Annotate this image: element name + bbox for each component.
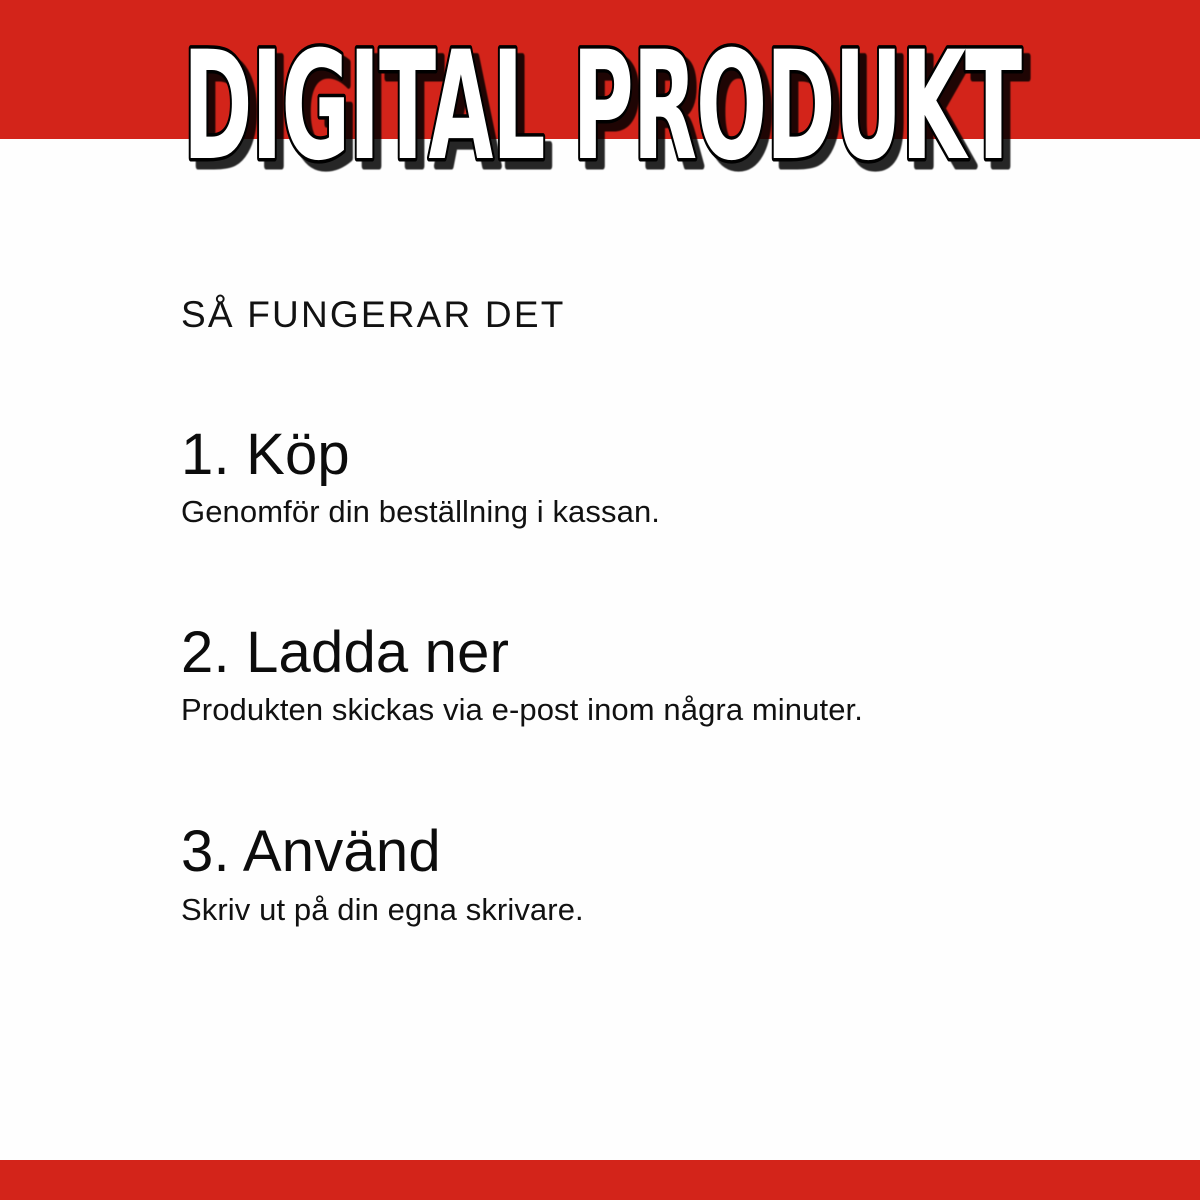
step-description: Genomför din beställning i kassan. <box>181 496 1141 529</box>
step-title: 3. Använd <box>181 822 1141 881</box>
step-description: Skriv ut på din egna skrivare. <box>181 894 1141 927</box>
red-footer-band <box>0 1160 1200 1200</box>
list-item: 1. Köp Genomför din beställning i kassan… <box>181 425 1141 529</box>
step-title: 2. Ladda ner <box>181 623 1141 682</box>
list-item: 3. Använd Skriv ut på din egna skrivare. <box>181 822 1141 926</box>
section-eyebrow: SÅ FUNGERAR DET <box>181 296 1141 333</box>
step-title: 1. Köp <box>181 425 1141 484</box>
steps-list: 1. Köp Genomför din beställning i kassan… <box>181 425 1141 926</box>
red-header-band <box>0 0 1200 139</box>
list-item: 2. Ladda ner Produkten skickas via e-pos… <box>181 623 1141 727</box>
poster-canvas: DIGITAL PRODUKT SÅ FUNGERAR DET 1. Köp G… <box>0 0 1200 1200</box>
step-description: Produkten skickas via e-post inom några … <box>181 694 1141 727</box>
content-block: SÅ FUNGERAR DET 1. Köp Genomför din best… <box>181 296 1141 926</box>
